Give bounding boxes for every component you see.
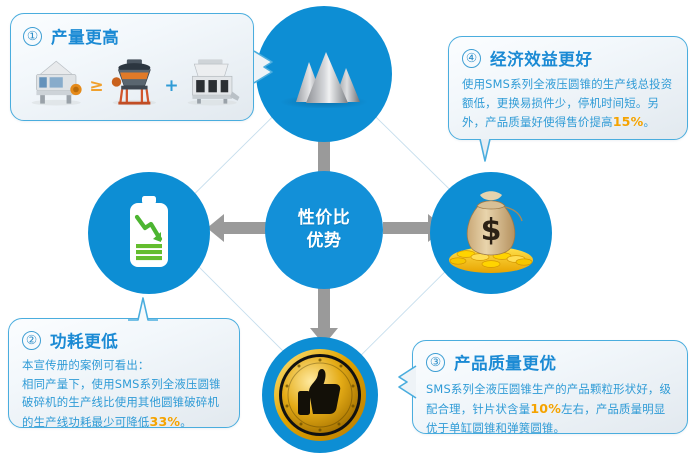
callout-4-number: ④ [462, 49, 481, 68]
callout-4-header: ④ 经济效益更好 [462, 46, 674, 70]
callout-1-title: 产量更高 [51, 24, 119, 48]
callout-2-line-1: 本宣传册的案例可看出： [22, 356, 226, 375]
callout-output-higher[interactable]: ① 产量更高 ≥ [10, 13, 254, 121]
callout-1-tail [254, 50, 280, 84]
cone-crusher-spring-plant-image [183, 54, 241, 108]
callout-power-lower[interactable]: ② 功耗更低 本宣传册的案例可看出： 相同产量下，使用SMS系列全液压圆锥 破碎… [8, 318, 240, 428]
center-label-line2: 优势 [298, 230, 351, 253]
cone-crusher-sms-white-image [27, 54, 85, 108]
callout-3-number: ③ [426, 353, 445, 372]
operator-plus: + [164, 76, 178, 108]
callout-4-tail [469, 139, 501, 163]
operator-greater-equal: ≥ [89, 76, 103, 108]
callout-3-highlight: 10% [530, 401, 561, 416]
callout-1-header: ① 产量更高 [23, 24, 241, 48]
callout-2-line-2: 相同产量下，使用SMS系列全液压圆锥 [22, 375, 226, 394]
center-circle-value-advantage[interactable]: 性价比 优势 [265, 171, 383, 289]
callout-4-body-post: 。 [643, 115, 655, 129]
callout-3-title: 产品质量更优 [454, 350, 557, 374]
callout-2-line-3: 破碎机的生产线比使用其他圆锥破碎机 [22, 393, 226, 412]
circle-product-quality[interactable] [262, 337, 378, 453]
callout-2-body-tail: 。 [180, 415, 192, 429]
aggregate-stone-piles-icon [274, 40, 374, 108]
callout-2-number: ② [22, 331, 41, 350]
callout-2-tail [127, 297, 159, 321]
arrow-down-to-quality [310, 283, 338, 345]
callout-4-highlight: 15% [613, 114, 644, 129]
arrow-left-to-power [207, 214, 269, 242]
svg-text:$: $ [481, 213, 502, 248]
infographic-canvas: $ [0, 0, 696, 453]
machine-comparison-row: ≥ + [23, 54, 241, 108]
money-bag-coins-icon: $ [444, 190, 538, 276]
callout-2-title: 功耗更低 [50, 328, 118, 352]
battery-low-power-icon [120, 195, 178, 271]
center-label-line1: 性价比 [298, 207, 351, 230]
callout-2-header: ② 功耗更低 [22, 328, 226, 352]
callout-3-header: ③ 产品质量更优 [426, 350, 674, 374]
center-circle-label: 性价比 优势 [298, 207, 351, 254]
callout-3-tail [393, 365, 417, 399]
circle-economic-benefit[interactable]: $ [430, 172, 552, 294]
callout-3-body: SMS系列全液压圆锥生产的产品颗粒形状好，级配合理，针片状含量10%左右，产品质… [426, 380, 674, 438]
callout-2-line-4-text: 的生产线功耗最少可降低 [22, 415, 150, 429]
cone-crusher-single-cylinder-image [108, 54, 161, 108]
callout-economic-benefit[interactable]: ④ 经济效益更好 使用SMS系列全液压圆锥的生产线总投资额低，更换易损件少，停机… [448, 36, 688, 140]
gold-medal-thumbs-up-icon [273, 348, 367, 442]
circle-power-consumption[interactable] [88, 172, 210, 294]
callout-1-number: ① [23, 27, 42, 46]
callout-2-line-4: 的生产线功耗最少可降低33%。 [22, 412, 226, 433]
callout-2-body: 本宣传册的案例可看出： 相同产量下，使用SMS系列全液压圆锥 破碎机的生产线比使… [22, 356, 226, 432]
callout-4-body: 使用SMS系列全液压圆锥的生产线总投资额低，更换易损件少，停机时间短。另外，产品… [462, 75, 674, 133]
callout-product-quality[interactable]: ③ 产品质量更优 SMS系列全液压圆锥生产的产品颗粒形状好，级配合理，针片状含量… [412, 340, 688, 434]
callout-2-highlight: 33% [150, 414, 181, 429]
callout-4-title: 经济效益更好 [490, 46, 593, 70]
